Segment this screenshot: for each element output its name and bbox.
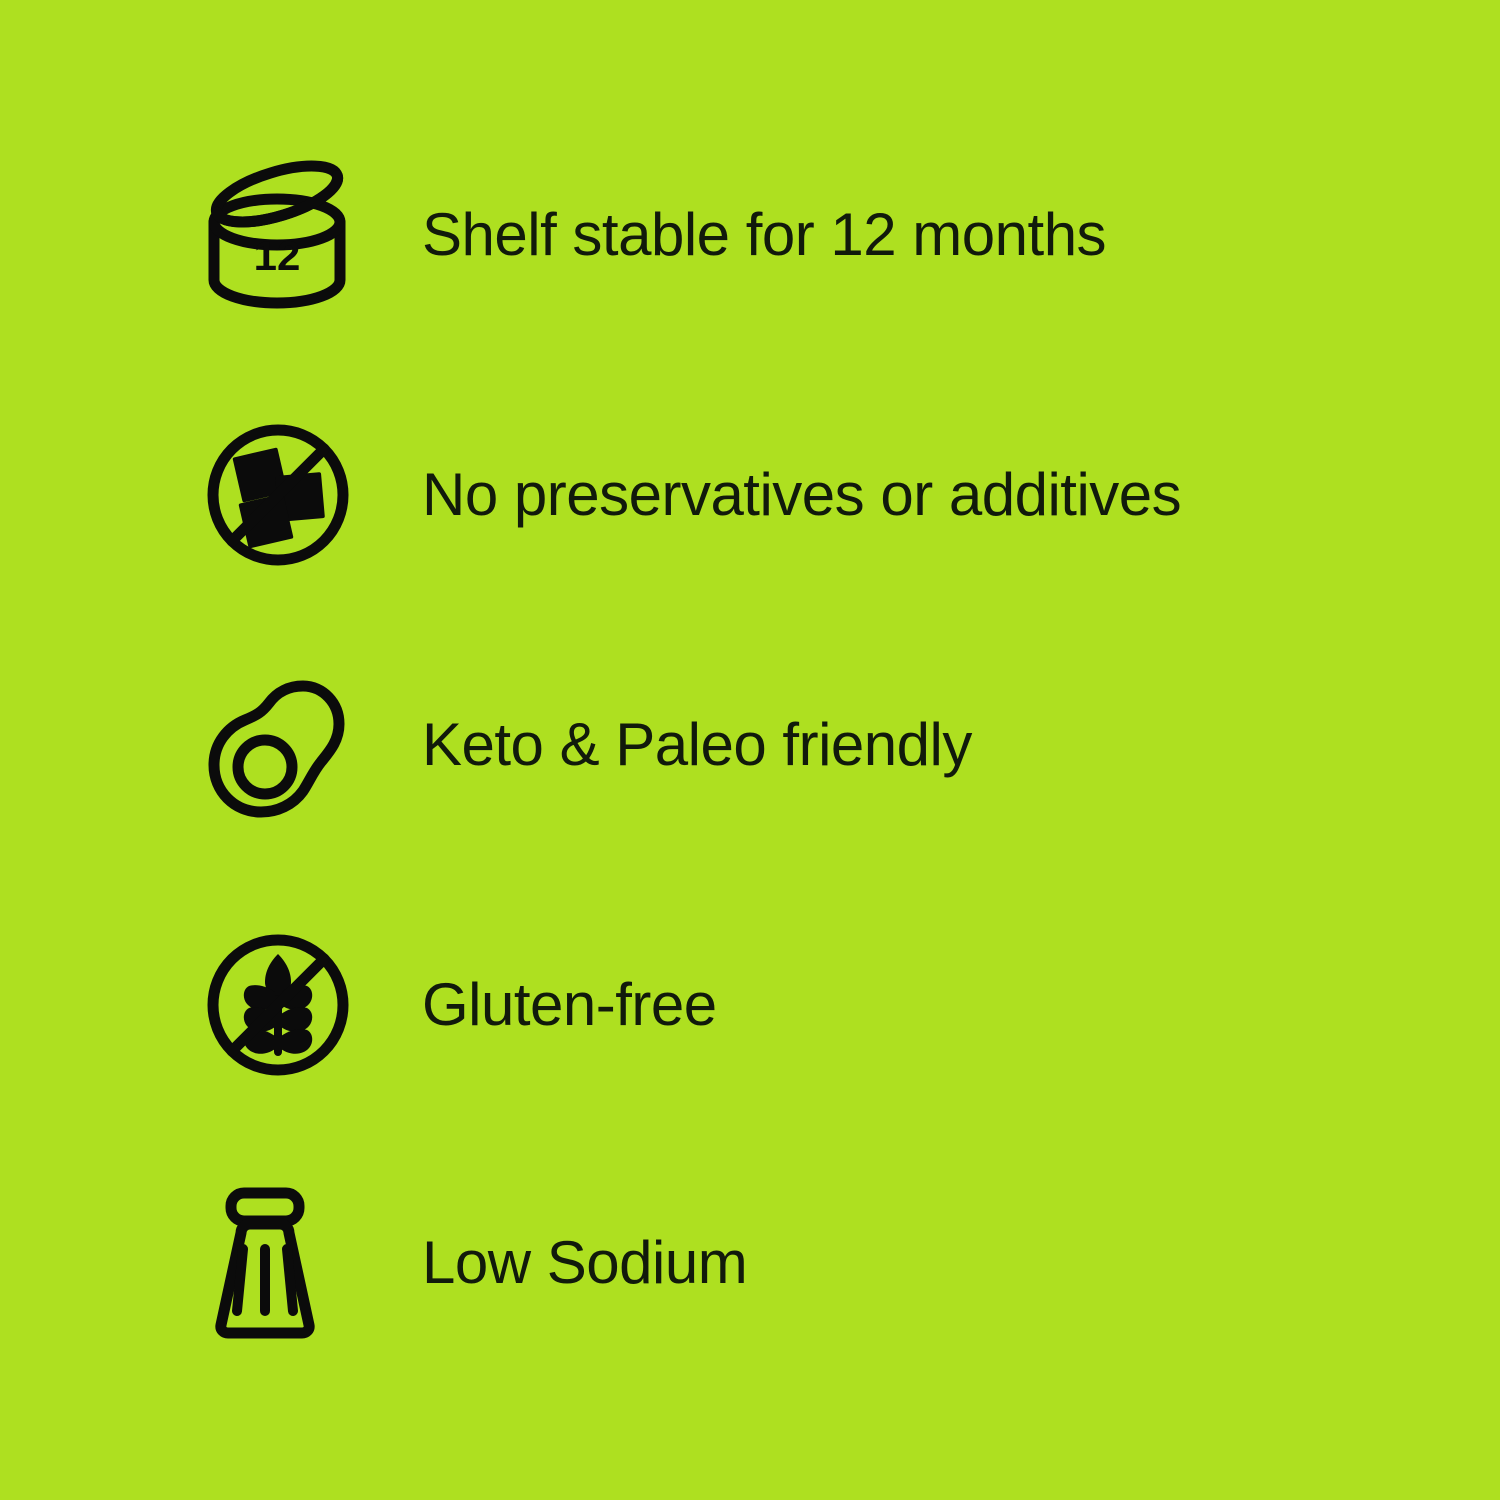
feature-label: No preservatives or additives <box>422 465 1181 525</box>
feature-row: Keto & Paleo friendly <box>205 665 972 825</box>
feature-label: Shelf stable for 12 months <box>422 205 1106 265</box>
gluten-free-wheat-icon <box>205 925 360 1085</box>
salt-shaker-icon <box>205 1183 360 1343</box>
no-preservatives-icon <box>205 415 360 575</box>
product-benefits-panel: 12 Shelf stable for 12 months No pre <box>0 0 1500 1500</box>
feature-row: Low Sodium <box>205 1183 747 1343</box>
shaker-cap-shape <box>231 1193 299 1221</box>
feature-label: Low Sodium <box>422 1233 747 1293</box>
feature-list: 12 Shelf stable for 12 months No pre <box>0 0 1500 1500</box>
open-can-12-months-icon: 12 <box>205 155 360 315</box>
feature-label: Gluten-free <box>422 975 717 1035</box>
avocado-pit-shape <box>238 740 292 794</box>
shelf-life-months-number: 12 <box>254 232 301 279</box>
feature-row: 12 Shelf stable for 12 months <box>205 155 1106 315</box>
avocado-icon <box>205 665 360 825</box>
feature-label: Keto & Paleo friendly <box>422 715 972 775</box>
feature-row: Gluten-free <box>205 925 717 1085</box>
feature-row: No preservatives or additives <box>205 415 1181 575</box>
